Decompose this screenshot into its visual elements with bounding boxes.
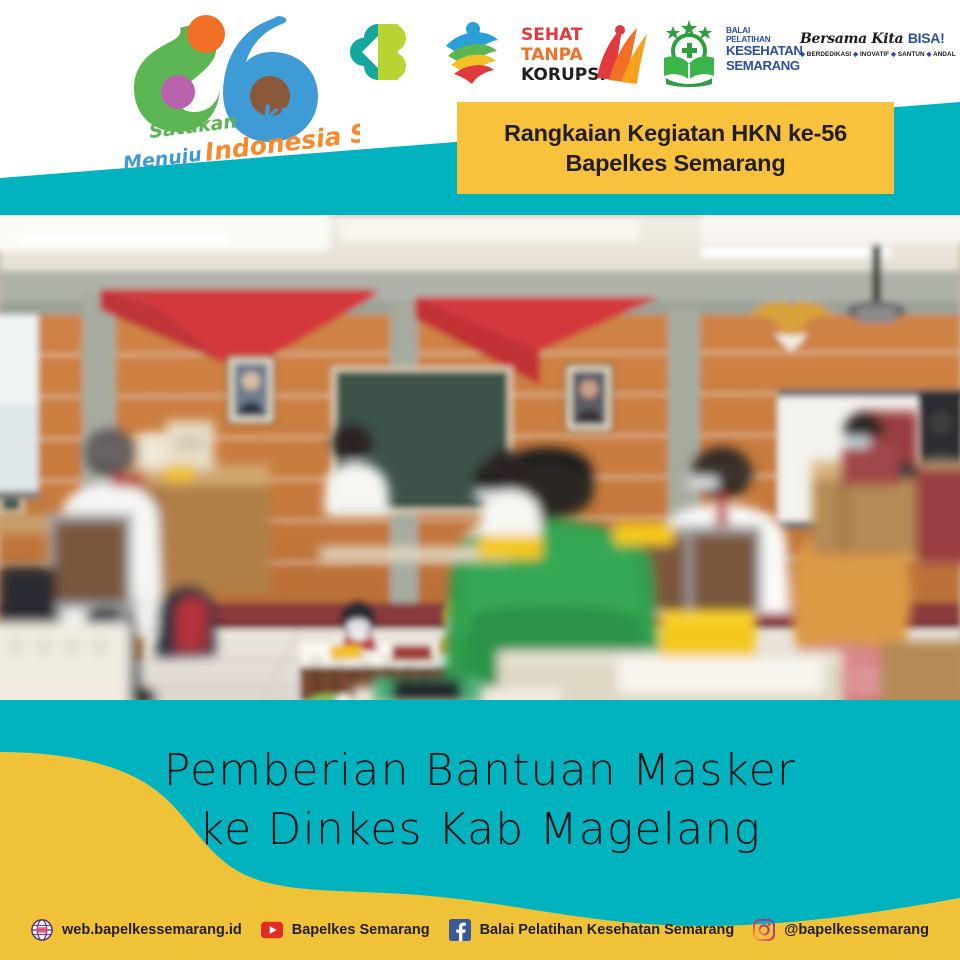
poster-header: Satukan Tekad Menuju Indonesia Sehat bbox=[0, 0, 960, 215]
globe-icon bbox=[31, 919, 53, 941]
footer-label-instagram: @bapelkessemarang bbox=[784, 922, 929, 938]
caption-line2: ke Dinkes Kab Magelang bbox=[0, 801, 960, 860]
tagline-main: Bersama Kita BISA! bbox=[800, 30, 930, 47]
event-photo bbox=[0, 215, 960, 707]
germas-logo bbox=[440, 20, 504, 86]
footer-label-website: web.bapelkessemarang.id bbox=[62, 922, 242, 938]
facebook-icon bbox=[449, 919, 471, 941]
title-banner-line1: Rangkaian Kegiatan HKN ke-56 bbox=[504, 118, 847, 148]
footer-label-youtube: Bapelkes Semarang bbox=[292, 922, 430, 938]
stk-line-tanpa: TANPA bbox=[521, 45, 584, 65]
hkn-56-logo: Satukan Tekad Menuju Indonesia Sehat bbox=[120, 6, 360, 176]
tagline-values: ◆ BERDEDIKASI ◆ INOVATIF ◆ SANTUN ◆ ANDA… bbox=[800, 51, 930, 58]
bersama-kita-bisa-tagline: Bersama Kita BISA! ◆ BERDEDIKASI ◆ INOVA… bbox=[800, 30, 930, 58]
caption-text: Pemberian Bantuan Masker ke Dinkes Kab M… bbox=[0, 742, 960, 859]
footer-item-facebook[interactable]: Balai Pelatihan Kesehatan Semarang bbox=[449, 919, 735, 941]
tagline-prefix: Bersama Kita bbox=[800, 31, 908, 47]
footer-item-instagram[interactable]: @bapelkessemarang bbox=[753, 919, 929, 941]
title-banner-line2: Bapelkes Semarang bbox=[504, 148, 847, 178]
bapelkes-wordmark: BALAI PELATIHAN KESEHATAN SEMARANG bbox=[726, 26, 796, 82]
youtube-icon bbox=[261, 919, 283, 941]
bapelkes-wordmark-line1: BALAI PELATIHAN bbox=[726, 26, 796, 44]
stk-line-korupsi: KORUPSI bbox=[521, 65, 606, 85]
instagram-icon bbox=[753, 919, 775, 941]
title-banner: Rangkaian Kegiatan HKN ke-56 Bapelkes Se… bbox=[457, 102, 894, 194]
title-banner-text: Rangkaian Kegiatan HKN ke-56 Bapelkes Se… bbox=[504, 118, 847, 178]
sehat-tanpa-korupsi-logo: SEHAT TANPA KORUPSI bbox=[519, 20, 649, 88]
kemenkes-logo bbox=[344, 18, 412, 86]
bapelkes-wordmark-line3: SEMARANG bbox=[726, 59, 796, 74]
poster-root: Satukan Tekad Menuju Indonesia Sehat bbox=[0, 0, 960, 960]
tagline-accent: BISA! bbox=[908, 30, 945, 46]
stk-line-sehat: SEHAT bbox=[521, 25, 583, 45]
footer-item-youtube[interactable]: Bapelkes Semarang bbox=[261, 919, 430, 941]
bapelkes-wordmark-line2: KESEHATAN bbox=[726, 44, 796, 59]
caption-line1: Pemberian Bantuan Masker bbox=[0, 742, 960, 801]
hkn-text-menuju: Menuju bbox=[122, 144, 203, 175]
poster-footer: web.bapelkessemarang.id Bapelkes Semaran… bbox=[0, 900, 960, 960]
footer-label-facebook: Balai Pelatihan Kesehatan Semarang bbox=[480, 922, 735, 938]
bapelkes-emblem bbox=[658, 18, 720, 88]
footer-item-website[interactable]: web.bapelkessemarang.id bbox=[31, 919, 242, 941]
